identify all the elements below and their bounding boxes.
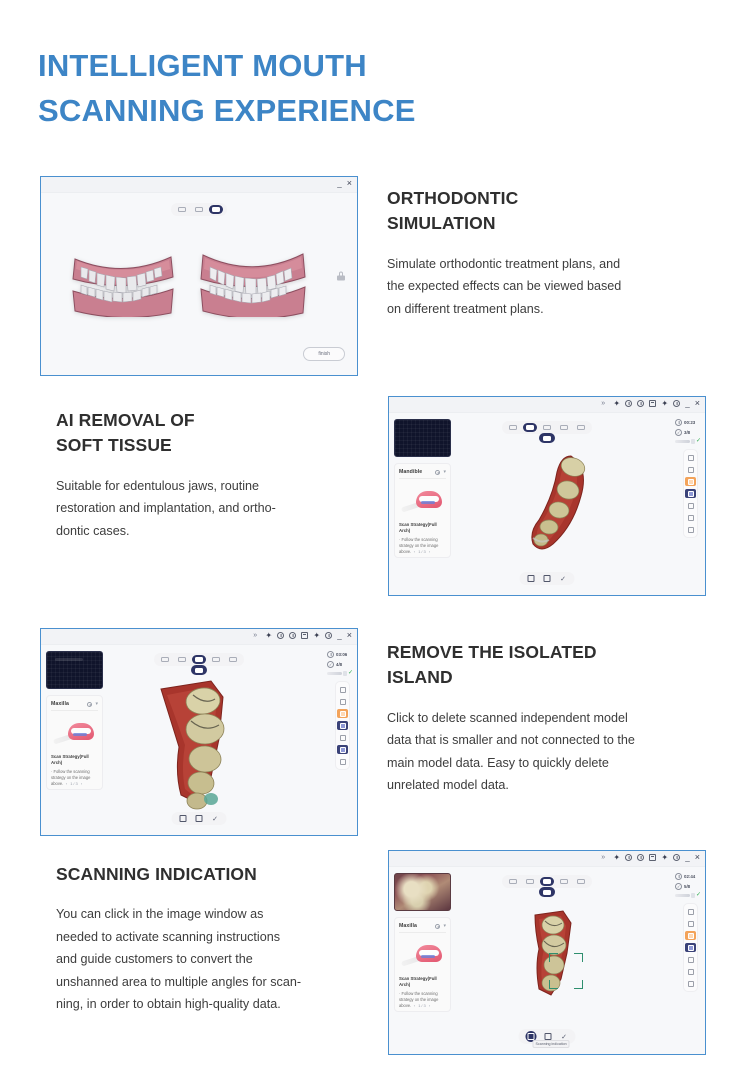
body-line: unrelated model data. (387, 774, 709, 796)
heading-line: SOFT TISSUE (56, 433, 376, 458)
mandible-scan-model (519, 452, 605, 557)
isolated-island-tool-icon[interactable] (337, 721, 348, 730)
finish-button[interactable]: finish (303, 347, 345, 361)
card-pager[interactable]: ‹ 1/3 › (395, 1003, 450, 1008)
lower-jaw-tool-icon[interactable] (523, 423, 537, 432)
fill-tool-icon[interactable] (685, 513, 696, 522)
camera-preview-thumbnail[interactable] (394, 873, 451, 911)
section-heading: REMOVE THE ISOLATED ISLAND (387, 640, 709, 691)
minimize-icon[interactable]: _ (685, 854, 689, 861)
dental-arch-illustration (416, 491, 442, 508)
upper-jaw-tool-icon[interactable] (506, 423, 520, 432)
sub-tool-active-icon[interactable] (191, 665, 207, 675)
body-line: ning, in order to obtain high-quality da… (56, 993, 378, 1015)
target-icon[interactable]: ✦ (661, 854, 668, 861)
jaw-label: Mandible (399, 469, 422, 475)
scanner-wand-status-icon: ✓ (675, 893, 701, 898)
bottom-action-bar[interactable]: ✓ Scanning indication (519, 1029, 576, 1044)
menu-tool-icon[interactable] (574, 423, 588, 432)
info-icon[interactable] (277, 632, 284, 639)
menu-tool-icon[interactable] (574, 877, 588, 886)
strategy-label: Scan Strategy(Full Arch) (51, 754, 98, 767)
scan-timer-value: 00:23 (684, 420, 695, 425)
window-icon[interactable] (649, 854, 656, 861)
body-line: unshanned area to multiple angles for sc… (56, 971, 378, 993)
window-controls[interactable]: » ✦ ✦ _ × (253, 632, 352, 639)
scanner-wand-status-icon: ✓ (327, 671, 353, 676)
close-icon[interactable]: × (347, 180, 352, 187)
clock-icon (675, 419, 682, 426)
left-sidebar: Maxilla ▾ Scan Strategy(Full Arch) · Fol… (394, 873, 451, 1012)
right-tool-rail[interactable]: 03:06 4/8 ✓ (327, 651, 353, 770)
chevron-down-icon[interactable]: ▾ (443, 924, 446, 929)
pointer-tool-icon[interactable] (175, 205, 189, 214)
body-line: dontic cases. (56, 520, 376, 542)
info-icon[interactable] (435, 470, 440, 475)
window-controls[interactable]: » ✦ ✦ _ × (601, 400, 700, 407)
scan-timer: 02:44 (675, 873, 701, 880)
section-ai-removal-of-soft-tissue: AI REMOVAL OF SOFT TISSUE Suitable for e… (56, 408, 376, 542)
soft-tissue-tool-icon[interactable] (685, 931, 696, 940)
scan-strategy-card[interactable]: Maxilla ▾ Scan Strategy(Full Arch) · Fol… (46, 695, 103, 790)
section-heading: ORTHODONTIC SIMULATION (387, 186, 707, 237)
help-icon[interactable] (637, 854, 644, 861)
heading-line: REMOVE THE ISOLATED (387, 640, 709, 665)
info-icon[interactable] (625, 400, 632, 407)
scan-strategy-header: Maxilla ▾ (399, 923, 446, 933)
heading-line: ISLAND (387, 665, 709, 690)
layers-tool-icon[interactable] (209, 655, 223, 664)
body-line: the expected effects can be viewed based (387, 275, 707, 297)
trim-tool-icon[interactable] (337, 733, 348, 742)
scan-strategy-illustration (51, 713, 98, 753)
left-sidebar: Mandible ▾ Scan Strategy(Full Arch) · Fo… (394, 419, 451, 558)
bite-tool-icon[interactable] (540, 877, 554, 886)
heading-line: SCANNING INDICATION (56, 862, 378, 887)
scan-strategy-illustration (399, 935, 446, 975)
camera-preview-thumbnail[interactable] (394, 419, 451, 457)
lock-icon[interactable] (337, 272, 345, 281)
body-line: Click to delete scanned independent mode… (387, 707, 709, 729)
right-tool-rail[interactable]: 02:44 5/8 ✓ (675, 873, 701, 992)
lower-jaw-tool-icon[interactable] (175, 655, 189, 664)
rotate-tool-icon[interactable] (685, 465, 696, 474)
card-header-icons[interactable]: ▾ (435, 470, 446, 475)
green-selection-bracket (549, 953, 583, 989)
zoom-tool-icon[interactable] (685, 907, 696, 916)
scan-progress-value: 5/8 (684, 884, 690, 889)
remove-isolated-island-screenshot[interactable]: » ✦ ✦ _ × Maxilla ▾ Scan St (40, 628, 358, 836)
left-sidebar: Maxilla ▾ Scan Strategy(Full Arch) · Fol… (46, 651, 103, 790)
scan-timer-value: 03:06 (336, 652, 347, 657)
section-orthodontic-simulation: ORTHODONTIC SIMULATION Simulate orthodon… (387, 186, 707, 320)
upper-jaw-tool-icon[interactable] (506, 877, 520, 886)
heading-line: AI REMOVAL OF (56, 408, 376, 433)
layers-tool-icon[interactable] (557, 877, 571, 886)
orthodontic-toolbar[interactable] (171, 203, 227, 216)
orthodontic-simulation-screenshot[interactable]: _ × (40, 176, 358, 376)
clock-icon (675, 873, 682, 880)
indication-tooltip: Scanning indication (533, 1040, 570, 1048)
scan-timer-value: 02:44 (684, 874, 695, 879)
section-scanning-indication: SCANNING INDICATION You can click in the… (56, 862, 378, 1015)
gear-icon[interactable] (325, 632, 332, 639)
layers-tool-icon[interactable] (557, 423, 571, 432)
chevron-right-icon[interactable]: » (601, 400, 608, 407)
isolated-island-tool-icon[interactable] (685, 489, 696, 498)
page-title-line-1: INTELLIGENT MOUTH (38, 44, 558, 89)
heading-line: SIMULATION (387, 211, 707, 236)
crop-icon[interactable] (527, 574, 536, 583)
jaw-label: Maxilla (399, 923, 417, 929)
minimize-icon[interactable]: _ (685, 400, 689, 407)
body-line: on different treatment plans. (387, 298, 707, 320)
info-icon[interactable] (435, 924, 440, 929)
info-icon[interactable] (87, 702, 92, 707)
star-icon[interactable]: ✦ (613, 854, 620, 861)
undo-tool-icon[interactable] (685, 525, 696, 534)
fill-tool-icon[interactable] (337, 745, 348, 754)
upper-jaw-tool-icon[interactable] (158, 655, 172, 664)
scan-progress: 3/8 (675, 429, 701, 436)
star-icon[interactable]: ✦ (613, 400, 620, 407)
sub-tool-active-icon[interactable] (539, 433, 555, 443)
dental-arch-illustration (416, 945, 442, 962)
soft-tissue-tool-icon[interactable] (337, 709, 348, 718)
target-icon[interactable]: ✦ (313, 632, 320, 639)
lower-jaw-tool-icon[interactable] (523, 877, 537, 886)
scan-strategy-card[interactable]: Mandible ▾ Scan Strategy(Full Arch) · Fo… (394, 463, 451, 558)
scan-strategy-header: Maxilla ▾ (51, 701, 98, 711)
isolated-island-tool-icon[interactable] (685, 943, 696, 952)
zoom-tool-icon[interactable] (685, 453, 696, 462)
page-title: INTELLIGENT MOUTH SCANNING EXPERIENCE (38, 44, 558, 134)
card-pager[interactable]: ‹ 1/3 › (47, 781, 102, 786)
help-icon[interactable] (289, 632, 296, 639)
body-line: main model data. Easy to quickly delete (387, 752, 709, 774)
chevron-right-icon[interactable]: » (253, 632, 260, 639)
window-controls[interactable]: » ✦ ✦ _ × (601, 854, 700, 861)
page-title-line-2: SCANNING EXPERIENCE (38, 89, 558, 134)
scan-progress: 4/8 (327, 661, 353, 668)
minimize-icon[interactable]: _ (337, 632, 341, 639)
chevron-right-icon[interactable]: » (601, 854, 608, 861)
maxilla-scan-model (153, 677, 263, 812)
bottom-action-bar[interactable]: ✓ (520, 572, 575, 585)
target-icon[interactable]: ✦ (661, 400, 668, 407)
section-body: You can click in the image window as nee… (56, 903, 378, 1015)
section-heading: AI REMOVAL OF SOFT TISSUE (56, 408, 376, 459)
scan-progress-value: 4/8 (336, 662, 342, 667)
card-header-icons[interactable]: ▾ (87, 702, 98, 707)
check-clock-icon (675, 429, 682, 436)
erase-icon[interactable] (195, 814, 204, 823)
scan-strategy-header: Mandible ▾ (399, 469, 446, 479)
window-titlebar (41, 177, 357, 193)
ai-removal-soft-tissue-screenshot[interactable]: » ✦ ✦ _ × Mandible ▾ Scan Strategy(Full (388, 396, 706, 596)
window-icon[interactable] (649, 400, 656, 407)
crop-icon[interactable] (179, 814, 188, 823)
scan-progress-value: 3/8 (684, 430, 690, 435)
star-icon[interactable]: ✦ (265, 632, 272, 639)
body-line: Suitable for edentulous jaws, routine (56, 475, 376, 497)
section-body: Suitable for edentulous jaws, routine re… (56, 475, 376, 542)
card-pager[interactable]: ‹ 1/3 › (395, 549, 450, 554)
card-header-icons[interactable]: ▾ (435, 924, 446, 929)
before-jaw-model (69, 255, 177, 317)
scanning-indication-screenshot[interactable]: » ✦ ✦ _ × Maxilla ▾ Scan Strategy(Full (388, 850, 706, 1055)
check-clock-icon (675, 883, 682, 890)
section-remove-the-isolated-island: REMOVE THE ISOLATED ISLAND Click to dele… (387, 640, 709, 796)
aligner-tool-icon[interactable] (209, 205, 223, 214)
tool-rail-group[interactable] (335, 681, 350, 770)
check-clock-icon (327, 661, 334, 668)
undo-tool-icon[interactable] (337, 757, 348, 766)
section-body: Click to delete scanned independent mode… (387, 707, 709, 797)
menu-tool-icon[interactable] (226, 655, 240, 664)
fill-tool-icon[interactable] (685, 967, 696, 976)
zoom-tool-icon[interactable] (337, 685, 348, 694)
bite-tool-icon[interactable] (192, 655, 206, 664)
sub-tool-active-icon[interactable] (539, 887, 555, 897)
body-line: You can click in the image window as (56, 903, 378, 925)
scan-strategy-illustration (399, 481, 446, 521)
window-icon[interactable] (301, 632, 308, 639)
bottom-action-bar[interactable]: ✓ (172, 812, 227, 825)
after-jaw-model (199, 253, 307, 317)
right-tool-rail[interactable]: 00:23 3/8 ✓ (675, 419, 701, 538)
body-line: data that is smaller and not connected t… (387, 729, 709, 751)
body-line: Simulate orthodontic treatment plans, an… (387, 253, 707, 275)
gear-icon[interactable] (673, 854, 680, 861)
camera-preview-thumbnail[interactable] (46, 651, 103, 689)
scan-timer: 03:06 (327, 651, 353, 658)
strategy-label: Scan Strategy(Full Arch) (399, 976, 446, 989)
scan-timer: 00:23 (675, 419, 701, 426)
body-line: and guide customers to convert the (56, 948, 378, 970)
info-icon[interactable] (625, 854, 632, 861)
soft-tissue-tool-icon[interactable] (685, 477, 696, 486)
dental-arch-illustration (68, 723, 94, 740)
minimize-icon[interactable]: _ (337, 180, 341, 187)
erase-icon[interactable] (543, 574, 552, 583)
chevron-down-icon[interactable]: ▾ (95, 702, 98, 707)
window-controls[interactable]: _ × (337, 180, 352, 187)
close-icon[interactable]: × (695, 400, 700, 407)
clock-icon (327, 651, 334, 658)
chevron-down-icon[interactable]: ▾ (443, 470, 446, 475)
confirm-icon[interactable]: ✓ (211, 814, 220, 823)
jaw-label: Maxilla (51, 701, 69, 707)
close-icon[interactable]: × (347, 632, 352, 639)
help-icon[interactable] (637, 400, 644, 407)
scanner-wand-status-icon: ✓ (675, 439, 701, 444)
undo-tool-icon[interactable] (685, 979, 696, 988)
trim-tool-icon[interactable] (685, 501, 696, 510)
scan-progress: 5/8 (675, 883, 701, 890)
body-line: needed to activate scanning instructions (56, 926, 378, 948)
close-icon[interactable]: × (695, 854, 700, 861)
body-line: restoration and implantation, and ortho- (56, 497, 376, 519)
rotate-tool-icon[interactable] (685, 919, 696, 928)
tool-rail-group[interactable] (683, 449, 698, 538)
section-heading: SCANNING INDICATION (56, 862, 378, 887)
rotate-tool-icon[interactable] (337, 697, 348, 706)
bite-tool-icon[interactable] (540, 423, 554, 432)
section-body: Simulate orthodontic treatment plans, an… (387, 253, 707, 320)
tray-tool-icon[interactable] (192, 205, 206, 214)
tool-rail-group[interactable] (683, 903, 698, 992)
heading-line: ORTHODONTIC (387, 186, 707, 211)
trim-tool-icon[interactable] (685, 955, 696, 964)
strategy-label: Scan Strategy(Full Arch) (399, 522, 446, 535)
gear-icon[interactable] (673, 400, 680, 407)
scan-strategy-card[interactable]: Maxilla ▾ Scan Strategy(Full Arch) · Fol… (394, 917, 451, 1012)
confirm-icon[interactable]: ✓ (559, 574, 568, 583)
